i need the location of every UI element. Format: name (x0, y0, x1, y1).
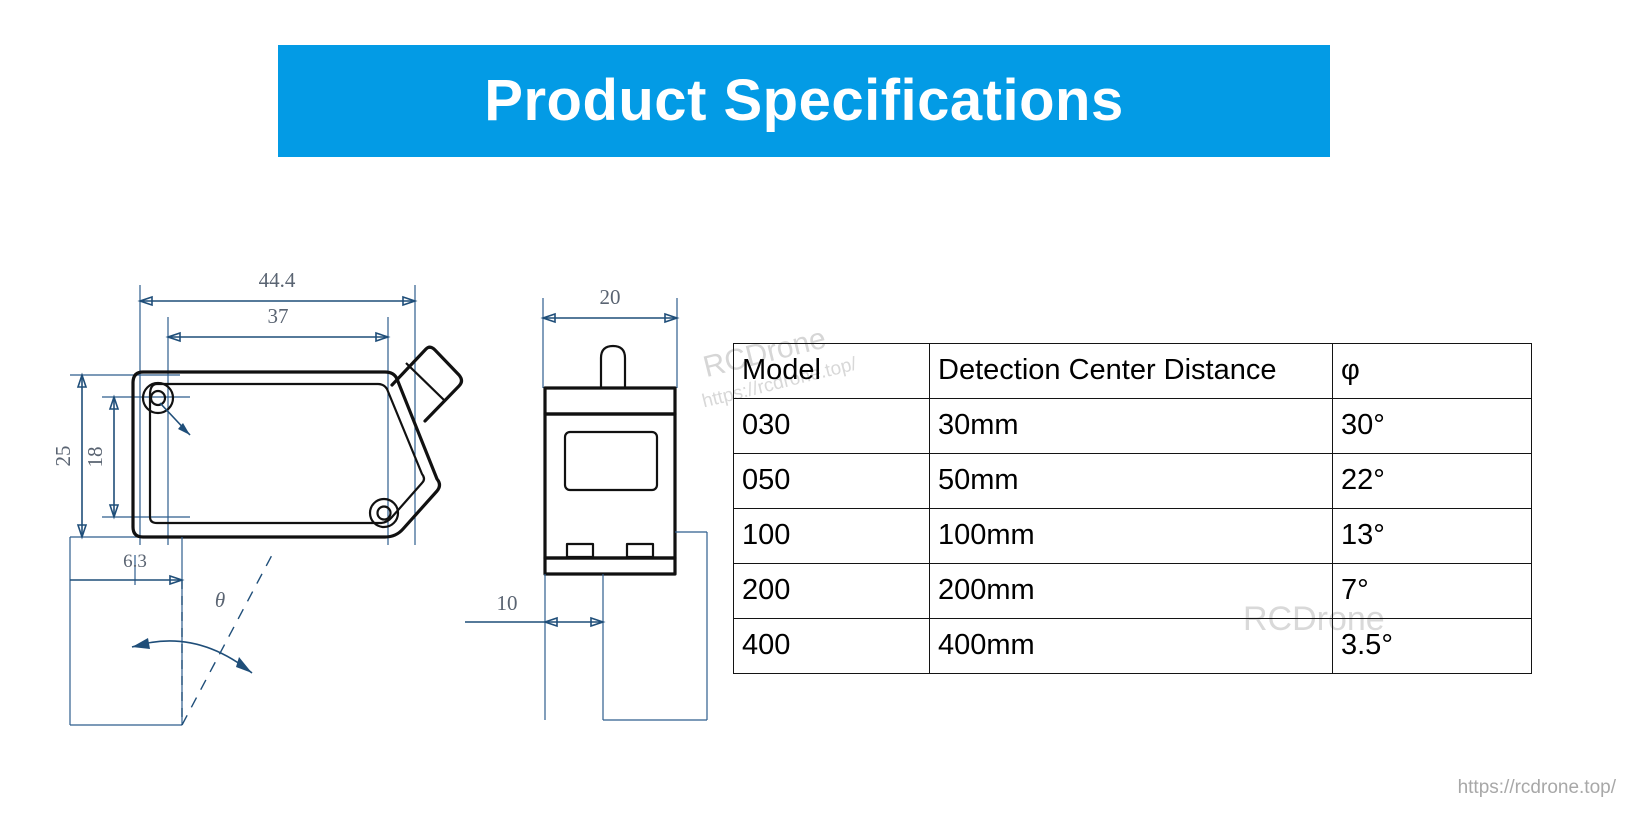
cell-model: 400 (734, 619, 930, 674)
dimension-label-10: 10 (497, 591, 518, 615)
cell-phi: 22° (1333, 454, 1532, 509)
dimension-label-25: 25 (51, 446, 75, 467)
dimension-25: 25 (51, 375, 86, 537)
top-tab (601, 346, 625, 388)
foot-right (627, 544, 653, 557)
footer-url: https://rcdrone.top/ (1458, 777, 1616, 799)
table-header-row: Model Detection Center Distance φ (734, 344, 1532, 399)
cell-model: 030 (734, 399, 930, 454)
cell-model: 100 (734, 509, 930, 564)
cell-phi: 30° (1333, 399, 1532, 454)
sensor-side-view-drawing: 20 10 (455, 280, 745, 750)
cell-phi: 7° (1333, 564, 1532, 619)
column-header-detection-center-distance: Detection Center Distance (930, 344, 1333, 399)
dimension-6-3: 6.3 (70, 551, 182, 584)
cable-connector (392, 347, 462, 421)
hole-leader-arrow (160, 403, 190, 435)
header-banner: Product Specifications (278, 45, 1330, 157)
lens-window (565, 432, 657, 490)
dimension-18: 18 (83, 397, 118, 517)
dimension-label-37: 37 (268, 304, 289, 328)
cell-distance: 30mm (930, 399, 1333, 454)
page-title: Product Specifications (484, 72, 1123, 130)
cell-phi: 3.5° (1333, 619, 1532, 674)
cell-phi: 13° (1333, 509, 1532, 564)
dimension-label-6-3: 6.3 (123, 551, 147, 572)
cell-distance: 200mm (930, 564, 1333, 619)
cell-distance: 400mm (930, 619, 1333, 674)
table-row: 200 200mm 7° (734, 564, 1532, 619)
table-row: 400 400mm 3.5° (734, 619, 1532, 674)
column-header-phi: φ (1333, 344, 1532, 399)
dimension-20: 20 (543, 285, 677, 322)
dimension-label-theta: θ (215, 588, 225, 612)
specifications-table: Model Detection Center Distance φ 030 30… (733, 343, 1532, 674)
lower-projection-side (545, 532, 707, 720)
cell-model: 200 (734, 564, 930, 619)
dimension-label-44-4: 44.4 (259, 268, 296, 292)
dimension-37: 37 (168, 304, 388, 341)
table-row: 030 30mm 30° (734, 399, 1532, 454)
cell-distance: 100mm (930, 509, 1333, 564)
dimension-44-4: 44.4 (140, 268, 415, 305)
table-row: 100 100mm 13° (734, 509, 1532, 564)
dimension-label-18: 18 (83, 447, 107, 468)
column-header-model: Model (734, 344, 930, 399)
dimension-label-20: 20 (600, 285, 621, 309)
sensor-top-view-drawing: 44.4 37 25 18 (40, 255, 510, 755)
cell-distance: 50mm (930, 454, 1333, 509)
table-row: 050 50mm 22° (734, 454, 1532, 509)
foot-left (567, 544, 593, 557)
dimension-10: 10 (465, 591, 603, 626)
cell-model: 050 (734, 454, 930, 509)
